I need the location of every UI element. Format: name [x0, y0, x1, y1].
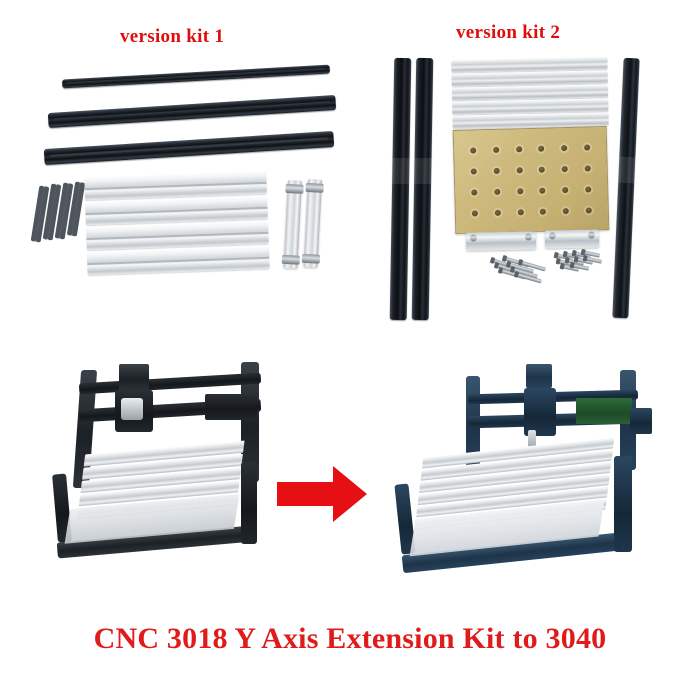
mdf-base-board	[453, 126, 610, 234]
mounting-hole	[495, 209, 501, 215]
mounting-hole	[516, 167, 522, 173]
mounting-hole	[517, 209, 523, 215]
arrow-shaft	[277, 482, 335, 506]
mounting-hole	[562, 187, 568, 193]
mounting-hole	[538, 145, 544, 151]
cnc-3040-machine	[398, 352, 663, 592]
mounting-hole	[493, 146, 499, 152]
mounting-hole	[584, 165, 590, 171]
mounting-hole	[539, 166, 545, 172]
mounting-hole	[540, 208, 546, 214]
mounting-hole-grid	[462, 136, 600, 224]
linear-guide-rail	[303, 179, 322, 268]
mounting-hole	[494, 167, 500, 173]
spindle-collet	[121, 398, 143, 420]
aluminium-bed-plate-stack	[84, 171, 269, 279]
black-extrusion-rail	[44, 131, 334, 165]
controller-pcb	[576, 398, 632, 424]
arrow-head	[333, 466, 367, 522]
stepper-motor-housing	[630, 408, 652, 434]
spindle-motor	[119, 364, 149, 392]
base-frame-right	[614, 456, 632, 552]
mounting-hole	[471, 168, 477, 174]
controller-housing	[205, 394, 257, 420]
mounting-hole	[470, 147, 476, 153]
black-extrusion-rail	[62, 65, 330, 89]
mounting-hole	[562, 166, 568, 172]
cnc-3018-machine	[55, 352, 300, 590]
base-frame-right	[241, 462, 257, 544]
mounting-hole	[516, 146, 522, 152]
mounting-hole	[585, 207, 591, 213]
upgrade-arrow	[277, 466, 367, 522]
screw-set-short	[556, 252, 608, 274]
mounting-hole	[472, 210, 478, 216]
x-axis-carriage	[524, 388, 556, 436]
mounting-hole	[584, 144, 590, 150]
mounting-hole	[494, 188, 500, 194]
product-caption: CNC 3018 Y Axis Extension Kit to 3040	[0, 622, 700, 656]
mounting-hole	[561, 145, 567, 151]
linear-guide-rail	[283, 180, 302, 269]
spindle-motor	[526, 364, 552, 388]
screw-set-long	[492, 258, 552, 286]
black-extrusion-rail-right	[612, 58, 639, 318]
mounting-hole	[540, 187, 546, 193]
mounting-bracket	[466, 231, 536, 250]
aluminium-bed-slat-stack	[451, 56, 608, 129]
mounting-hole	[472, 189, 478, 195]
black-extrusion-rail	[48, 95, 336, 128]
kit2-label: version kit 2	[456, 22, 560, 44]
mounting-hole	[563, 208, 569, 214]
black-extrusion-rail-long	[412, 58, 434, 320]
black-extrusion-rail-long	[390, 58, 412, 320]
gantry-beam-top	[79, 373, 261, 395]
kit1-label: version kit 1	[120, 26, 224, 48]
aluminium-bed-plate	[87, 246, 270, 275]
mounting-bracket	[545, 230, 599, 249]
mounting-hole	[585, 186, 591, 192]
mounting-hole	[517, 188, 523, 194]
